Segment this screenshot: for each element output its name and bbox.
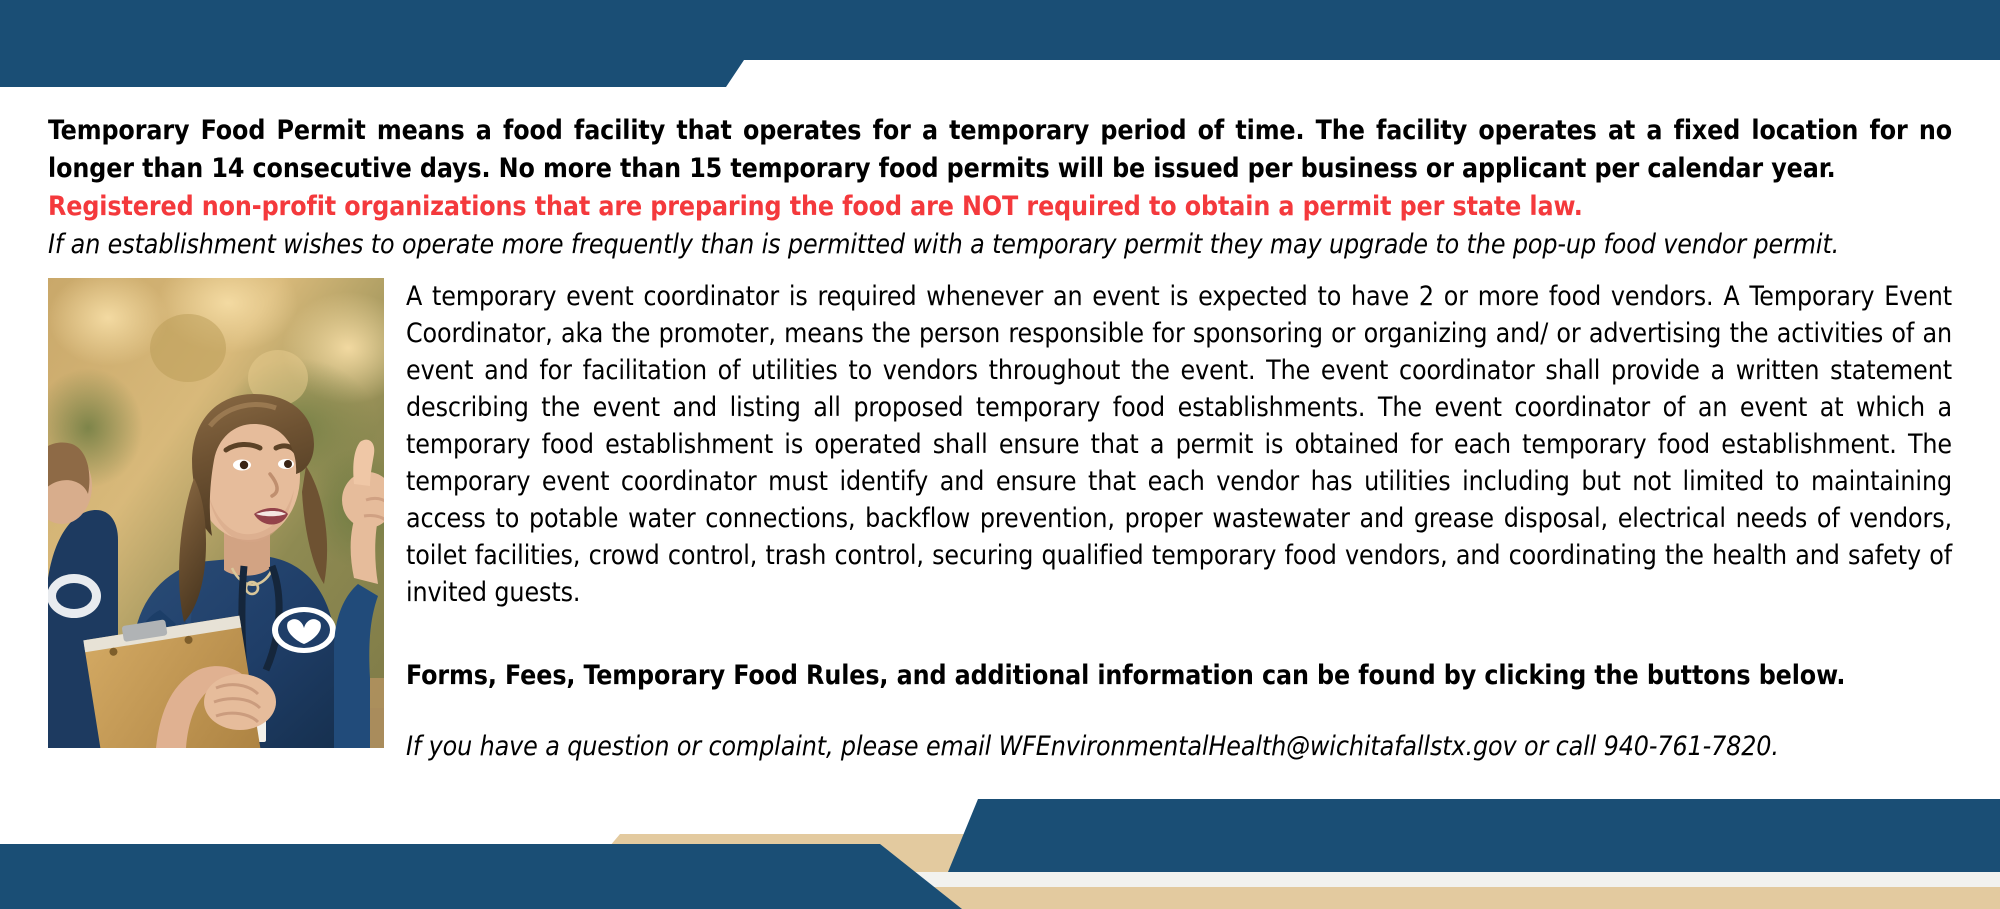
nonprofit-warning-paragraph: Registered non-profit organizations that… (48, 188, 1952, 226)
header-navy-shape (0, 0, 2000, 87)
inspector-photo-illustration (48, 278, 384, 748)
forms-and-fees-callout: Forms, Fees, Temporary Food Rules, and a… (406, 657, 1952, 694)
page-root: Temporary Food Permit means a food facil… (0, 0, 2000, 909)
footer-shape-svg (0, 779, 2000, 909)
footer-tan-ribbon-bevel (588, 834, 640, 872)
content-area: Temporary Food Permit means a food facil… (0, 90, 2000, 765)
footer-tan-ribbon (620, 834, 2000, 872)
footer-navy-wedge-right (948, 799, 2000, 872)
contact-line: If you have a question or complaint, ple… (406, 728, 1952, 765)
definition-paragraph: Temporary Food Permit means a food facil… (48, 112, 1952, 188)
footer-tan-base (0, 887, 2000, 909)
footer-navy-block-left (0, 844, 962, 909)
body-row: A temporary event coordinator is require… (48, 278, 1952, 765)
main-text-column: A temporary event coordinator is require… (406, 278, 1952, 765)
footer-cream-stripe (0, 872, 2000, 887)
footer-decoration-band (0, 779, 2000, 909)
coordinator-paragraph: A temporary event coordinator is require… (406, 278, 1952, 611)
intro-block: Temporary Food Permit means a food facil… (48, 90, 1952, 264)
header-shape-svg (0, 0, 2000, 90)
inspector-photo (48, 278, 384, 748)
upgrade-note-paragraph: If an establishment wishes to operate mo… (48, 226, 1952, 264)
header-decoration-band (0, 0, 2000, 90)
